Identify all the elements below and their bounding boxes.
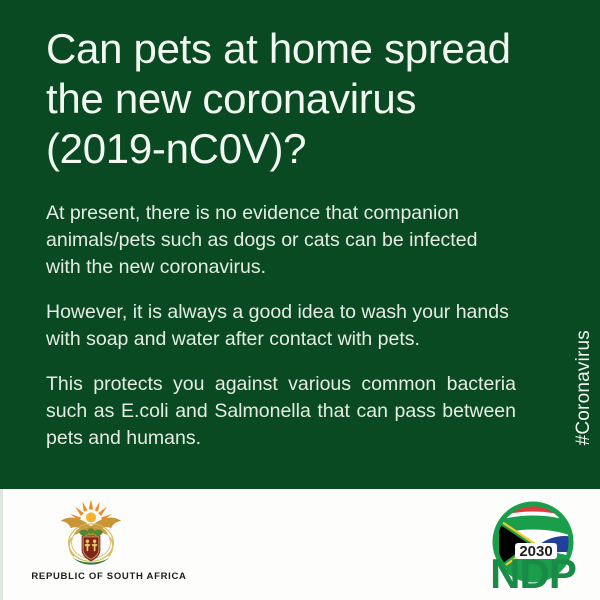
footer-left-edge [0,489,3,600]
hashtag-coronavirus: #Coronavirus [574,330,593,445]
svg-text:NDP: NDP [490,550,576,590]
page-title-line-1: Can pets at home spread [46,24,566,74]
page-title: Can pets at home spread the new coronavi… [46,24,566,174]
government-caption: REPUBLIC OF SOUTH AFRICA [14,571,204,582]
page-title-line-3: (2019-nC0V)? [46,124,566,174]
ndp-2030-logo: 2030 NDP 2030 NDP [477,500,589,590]
page-title-line-2: the new coronavirus [46,74,566,124]
south-africa-coat-of-arms-icon [54,498,128,570]
poster-canvas: Can pets at home spread the new coronavi… [0,0,600,600]
body-paragraph-2: However, it is always a good idea to was… [46,299,516,353]
government-branding: REPUBLIC OF SOUTH AFRICA [14,498,204,590]
body-copy: At present, there is no evidence that co… [46,200,516,452]
ndp-logo-icon: 2030 NDP 2030 NDP [477,500,589,590]
body-paragraph-1: At present, there is no evidence that co… [46,200,516,281]
body-paragraph-3: This protects you against various common… [46,371,516,452]
